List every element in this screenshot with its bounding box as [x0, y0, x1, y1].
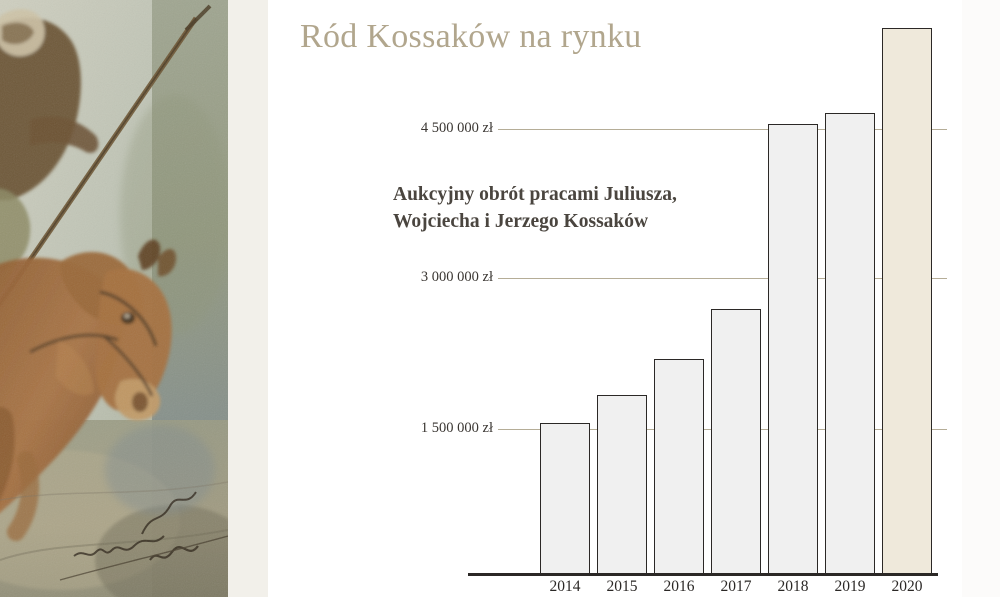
x-axis-tick-label-2020: 2020	[878, 578, 936, 596]
bar-2016[interactable]	[654, 359, 704, 574]
x-axis-tick-label-2018: 2018	[764, 578, 822, 596]
bar-2017[interactable]	[711, 309, 761, 574]
bar-2018[interactable]	[768, 124, 818, 574]
y-axis-tick-label: 3 000 000 zł	[373, 269, 493, 286]
y-axis-tick-label: 4 500 000 zł	[373, 120, 493, 137]
x-axis-line	[468, 573, 938, 576]
bar-2014[interactable]	[540, 423, 590, 574]
gridline-3000000	[498, 278, 947, 279]
x-axis-tick-label-2015: 2015	[593, 578, 651, 596]
bar-2015[interactable]	[597, 395, 647, 574]
bar-chart: 4 500 000 zł 3 000 000 zł 1 500 000 zł 2…	[0, 0, 1000, 597]
x-axis-tick-label-2019: 2019	[821, 578, 879, 596]
y-axis-tick-label: 1 500 000 zł	[373, 420, 493, 437]
x-axis-tick-label-2014: 2014	[536, 578, 594, 596]
x-axis-tick-label-2017: 2017	[707, 578, 765, 596]
bar-2020[interactable]	[882, 28, 932, 574]
x-axis-tick-label-2016: 2016	[650, 578, 708, 596]
bar-2019[interactable]	[825, 113, 875, 574]
gridline-4500000	[498, 129, 947, 130]
chart-subtitle: Aukcyjny obrót pracami Juliusza, Wojciec…	[393, 182, 763, 236]
